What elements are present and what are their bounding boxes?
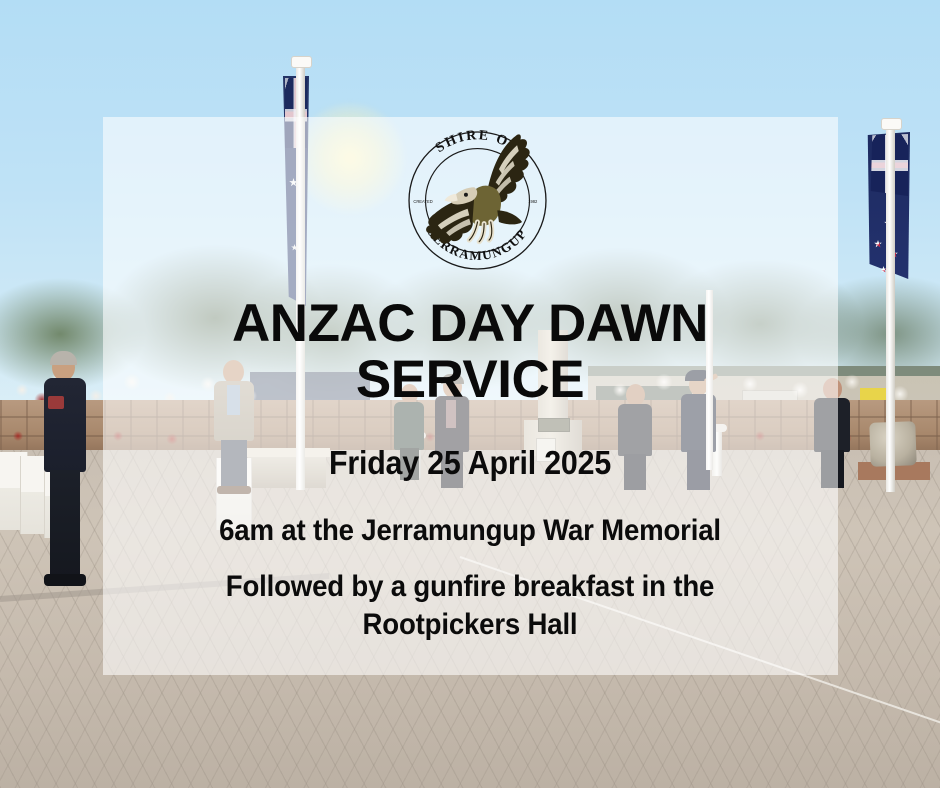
eagle-eye — [464, 193, 468, 197]
followup-line-1: Followed by a gunfire breakfast in the — [226, 570, 714, 603]
logo-year-text: 1982 — [528, 199, 538, 204]
person-veteran-in-dark-suit — [38, 354, 92, 600]
anzac-day-poster: SHIRE OF JERRAMUNGUP CREATED 1982 — [0, 0, 940, 788]
flagpole-cap — [881, 118, 902, 130]
event-followup: Followed by a gunfire breakfast in the R… — [148, 568, 792, 644]
flagpole-new-zealand — [886, 122, 895, 492]
shire-logo-svg: SHIRE OF JERRAMUNGUP CREATED 1982 — [395, 118, 560, 283]
headline-line-1: ANZAC DAY DAWN — [232, 294, 708, 353]
flagpole-cap — [291, 56, 312, 68]
logo-created-text: CREATED — [413, 199, 432, 204]
followup-line-2: Rootpickers Hall — [363, 608, 578, 641]
eagle-tail — [497, 210, 522, 224]
page-title: ANZAC DAY DAWN SERVICE — [120, 296, 820, 407]
headline-line-2: SERVICE — [356, 350, 584, 409]
shire-of-jerramungup-logo: SHIRE OF JERRAMUNGUP CREATED 1982 — [395, 118, 560, 283]
event-time-and-venue: 6am at the Jerramungup War Memorial — [148, 514, 792, 548]
eagle-beak — [445, 194, 458, 202]
event-date: Friday 25 April 2025 — [148, 444, 792, 482]
